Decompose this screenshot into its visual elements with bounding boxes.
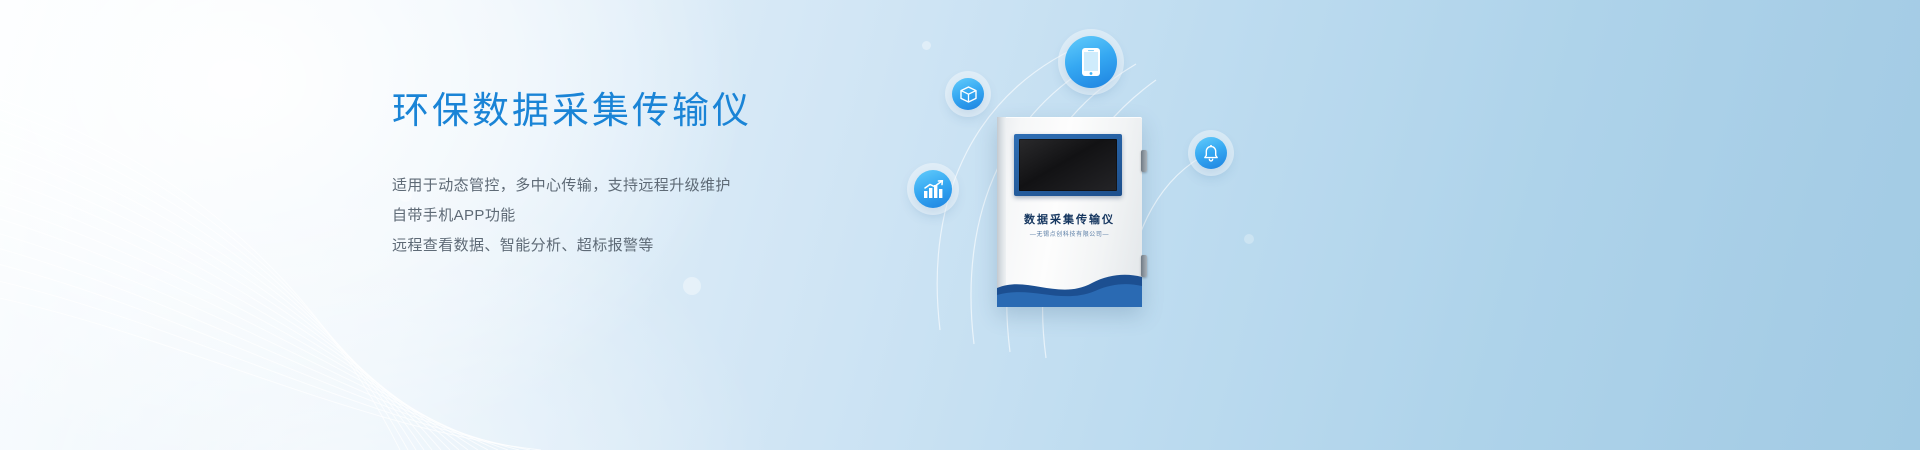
alarm-bell-icon[interactable] [1195,137,1227,169]
subtitle-line-1: 适用于动态管控，多中心传输，支持远程升级维护 [392,171,912,201]
subtitle-line-3: 远程查看数据、智能分析、超标报警等 [392,231,912,261]
subtitle-line-2: 自带手机APP功能 [392,201,912,231]
bar-chart-icon[interactable] [914,170,952,208]
device-label-title: 数据采集传输仪 [997,211,1142,227]
product-banner: 环保数据采集传输仪 适用于动态管控，多中心传输，支持远程升级维护 自带手机APP… [0,0,1920,450]
device-screen-bezel [1014,134,1122,196]
device-label-company: —无锡点创科技有限公司— [997,229,1142,238]
device-hinge-top [1141,150,1147,172]
page-title: 环保数据采集传输仪 [392,92,912,129]
banner-subtitle-list: 适用于动态管控，多中心传输，支持远程升级维护 自带手机APP功能 远程查看数据、… [392,171,912,261]
mobile-phone-icon[interactable] [1065,36,1117,88]
product-visual: 数据采集传输仪 —无锡点创科技有限公司— [880,0,1300,450]
package-box-icon[interactable] [952,78,984,110]
device-bottom-wave [997,261,1142,307]
data-acquisition-device: 数据采集传输仪 —无锡点创科技有限公司— [997,117,1142,307]
banner-copy: 环保数据采集传输仪 适用于动态管控，多中心传输，支持远程升级维护 自带手机APP… [392,92,912,261]
device-screen [1019,139,1117,191]
